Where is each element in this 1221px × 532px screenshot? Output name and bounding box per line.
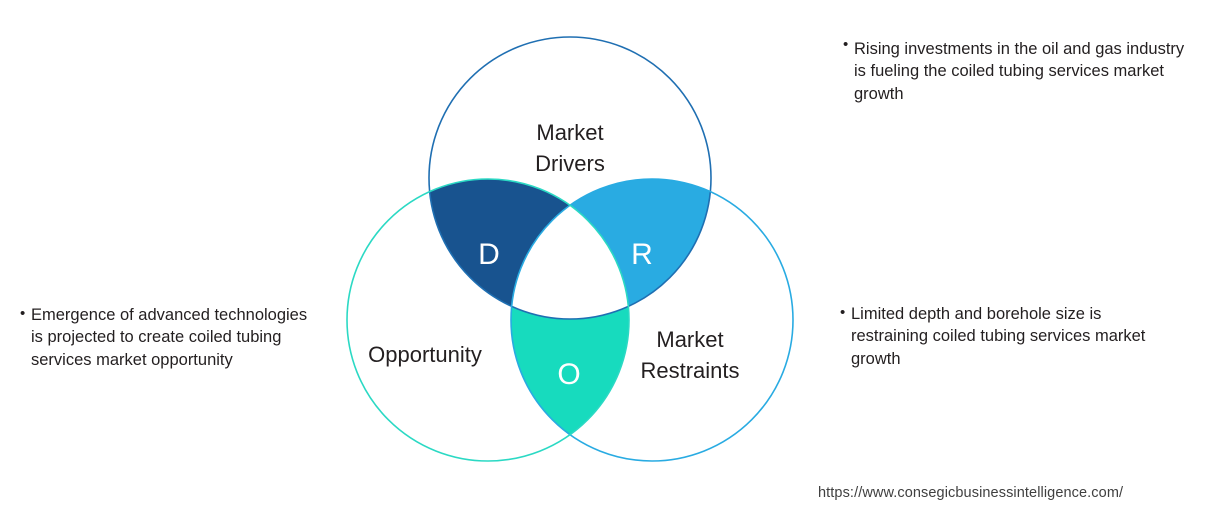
callout-restraints-text: Limited depth and borehole size is restr… xyxy=(840,303,1180,370)
callout-opportunity-text: Emergence of advanced technologies is pr… xyxy=(20,304,310,371)
venn-letter-r: R xyxy=(631,238,653,271)
venn-label-drivers-line2: Drivers xyxy=(535,151,605,176)
callout-drivers-bullet: • xyxy=(843,35,848,55)
venn-diagram: Market Drivers Market Restraints Opportu… xyxy=(320,18,820,488)
diagram-canvas: Market Drivers Market Restraints Opportu… xyxy=(0,0,1221,532)
venn-label-restraints-line1: Market xyxy=(656,327,723,352)
venn-label-opportunity: Opportunity xyxy=(368,342,482,367)
callout-opportunity: • Emergence of advanced technologies is … xyxy=(20,304,310,371)
venn-letter-d: D xyxy=(478,238,500,271)
source-url[interactable]: https://www.consegicbusinessintelligence… xyxy=(818,485,1123,501)
callout-drivers-text: Rising investments in the oil and gas in… xyxy=(843,38,1198,105)
venn-letter-o: O xyxy=(557,358,580,391)
callout-drivers: • Rising investments in the oil and gas … xyxy=(843,38,1198,105)
callout-opportunity-bullet: • xyxy=(20,304,25,324)
callout-restraints: • Limited depth and borehole size is res… xyxy=(840,303,1180,370)
callout-restraints-bullet: • xyxy=(840,303,845,323)
venn-label-restraints-line2: Restraints xyxy=(640,358,739,383)
venn-label-drivers-line1: Market xyxy=(536,120,603,145)
